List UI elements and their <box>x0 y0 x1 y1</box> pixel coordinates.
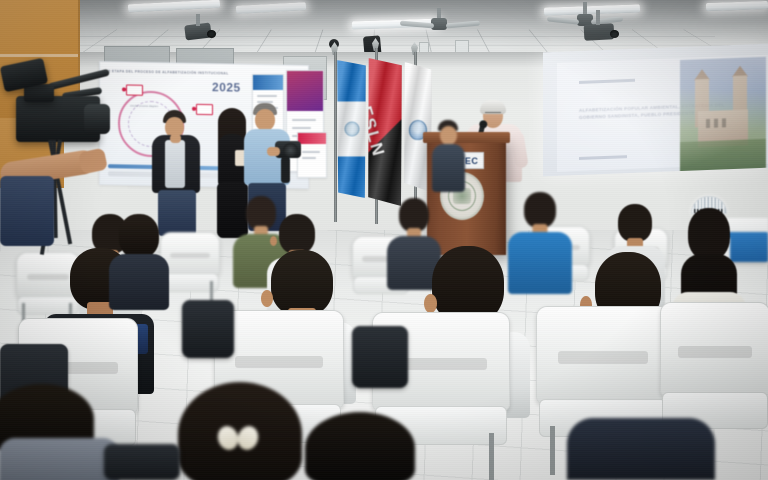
head <box>440 126 457 145</box>
flag-fsln: FSLN <box>368 58 402 206</box>
operator-torso <box>0 176 54 246</box>
video-camera-lens-icon <box>84 104 110 134</box>
auditorium-photograph: II etapa del proceso de alfabetización i… <box>0 0 768 480</box>
camera-strap <box>281 157 290 183</box>
flag-nicaragua <box>337 60 366 198</box>
flagpole <box>334 52 337 222</box>
hand <box>170 134 181 143</box>
ear <box>270 236 277 246</box>
fsln-flag-text: FSLN <box>368 104 388 160</box>
poster-header <box>298 133 326 144</box>
head-hair <box>271 250 333 316</box>
poster-line <box>292 119 316 121</box>
attendee-foreground-right <box>566 418 716 480</box>
cathedral-window <box>706 119 710 128</box>
wall-poster <box>297 132 327 178</box>
projector-lens-icon <box>610 30 619 38</box>
inner-shirt <box>165 140 185 188</box>
head-hair <box>399 198 429 232</box>
attendee-with-white-bow <box>160 382 320 480</box>
podium-top-ledge <box>423 132 510 143</box>
chair-back <box>660 302 768 397</box>
head-hair <box>688 208 730 260</box>
cathedral-window <box>714 119 718 128</box>
hair-bow <box>218 426 258 450</box>
backpack <box>352 326 408 388</box>
cathedral-window <box>722 118 726 127</box>
head-hair <box>618 204 652 242</box>
projector-mount <box>196 14 200 26</box>
camera-operator-second <box>108 214 170 306</box>
nicaragua-crest-icon <box>344 122 359 137</box>
banner-chip-icon <box>126 85 143 96</box>
poster-line <box>292 127 311 129</box>
poster-line <box>257 95 277 97</box>
banner-chip-icon <box>196 104 213 115</box>
projector-lens-icon <box>207 30 216 38</box>
head <box>255 109 275 131</box>
head-hair <box>524 192 556 228</box>
chair-leg <box>550 426 555 476</box>
projection-screen: Alfabetización popular ambiental, estrat… <box>543 44 768 177</box>
hand <box>267 147 280 156</box>
torso <box>567 418 715 480</box>
poster-header <box>253 75 283 90</box>
handheld-device <box>104 444 180 480</box>
head-hair <box>279 214 315 254</box>
poster-line <box>302 157 316 159</box>
chair-back <box>536 306 670 404</box>
torso <box>432 144 465 192</box>
slide-eyebrow-rule <box>579 79 635 84</box>
torso <box>109 254 169 310</box>
slide-footer-rule <box>579 155 627 160</box>
slide-cathedral-image <box>680 57 766 176</box>
head-hair <box>119 214 159 258</box>
head-hair <box>305 412 415 480</box>
ear <box>261 290 273 307</box>
projector-mount <box>596 10 600 25</box>
torso-shirt <box>0 438 119 480</box>
poster-header <box>287 71 323 111</box>
presenter-glasses-icon <box>485 112 501 117</box>
chair-leg <box>489 433 494 480</box>
banner-year: 2025 <box>212 80 241 95</box>
attendee-foreground-center <box>300 412 420 480</box>
poster-line <box>302 151 320 153</box>
ear <box>424 294 437 313</box>
backpack <box>182 300 234 358</box>
presentation-slide: Alfabetización popular ambiental, estrat… <box>557 55 768 172</box>
